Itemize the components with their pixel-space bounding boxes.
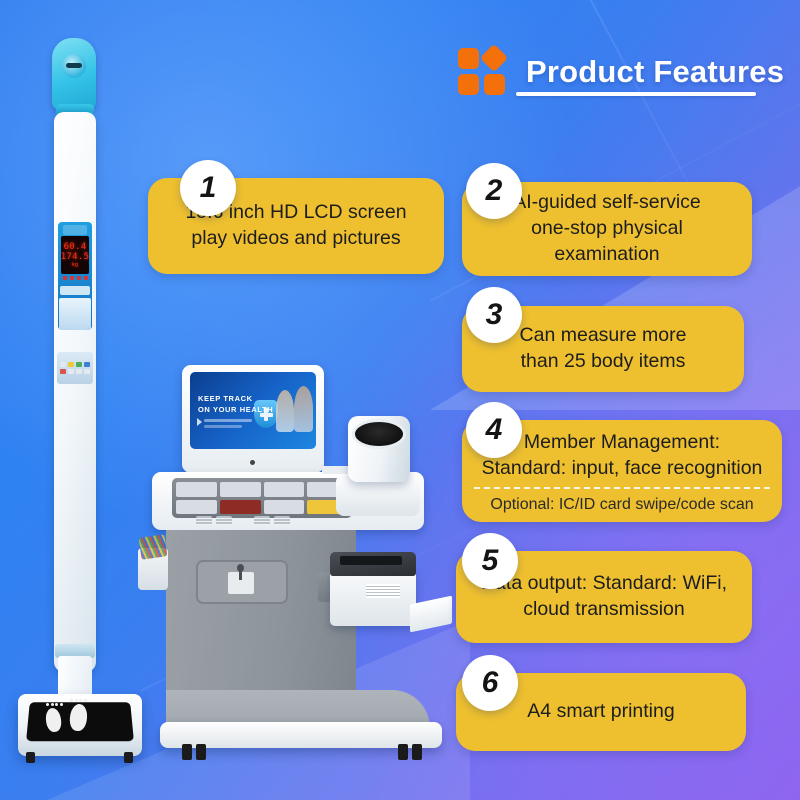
feature-number-badge-2: 2 bbox=[466, 163, 522, 219]
screen-person-figure bbox=[276, 390, 294, 432]
led-unit-label: kg bbox=[72, 263, 79, 268]
caster-wheel bbox=[182, 744, 192, 760]
screen-headline-line1: KEEP TRACK bbox=[198, 394, 253, 403]
sensor-slit-icon bbox=[66, 63, 82, 68]
section-header: Product Features bbox=[458, 46, 784, 96]
led-weight-value: 60.4 bbox=[64, 243, 87, 252]
feature-number-badge-3: 3 bbox=[466, 287, 522, 343]
monitor-indicator-icon bbox=[250, 460, 255, 465]
led-readout-display: 60.4 174.5 kg bbox=[61, 236, 89, 274]
cabinet-panel-icon bbox=[228, 572, 254, 594]
sensor-module-tray bbox=[172, 478, 352, 518]
infographic-canvas: 60.4 174.5 kg bbox=[0, 0, 800, 800]
footprint-left-toes-icon bbox=[46, 703, 63, 706]
scale-foot-pad bbox=[124, 752, 133, 763]
led-indicator-dots bbox=[63, 276, 88, 280]
feature-number-badge-6: 6 bbox=[462, 655, 518, 711]
card-dashed-divider bbox=[474, 487, 770, 489]
printer-output-tray bbox=[410, 596, 452, 633]
printer-paper-slot bbox=[340, 556, 402, 565]
screen-subtext-line bbox=[204, 419, 252, 422]
feature-number-badge-1: 1 bbox=[180, 160, 236, 216]
screen-person-figure bbox=[294, 386, 313, 432]
footprint-right-toes-icon bbox=[70, 699, 87, 702]
deck-vent-icon bbox=[196, 516, 212, 525]
height-sensor-head-icon bbox=[52, 38, 96, 110]
feature-optional-text: Optional: IC/ID card swipe/code scan bbox=[462, 495, 782, 516]
feature-number-badge-5: 5 bbox=[462, 533, 518, 589]
panel-keypad bbox=[57, 352, 93, 384]
kiosk-lcd-screen: KEEP TRACK ON YOUR HEALTH bbox=[190, 372, 316, 449]
scale-foot-pad bbox=[26, 752, 35, 763]
cable-bundle bbox=[139, 534, 168, 559]
screen-subtext-line bbox=[204, 425, 242, 428]
height-measurement-column bbox=[54, 112, 96, 672]
panel-divider-strip bbox=[60, 286, 90, 295]
deck-vent-icon bbox=[254, 516, 270, 525]
header-underline bbox=[516, 92, 756, 96]
panel-info-graphic bbox=[59, 298, 91, 330]
caster-wheel bbox=[398, 744, 408, 760]
screen-headline-line2: ON YOUR HEALTH bbox=[198, 405, 273, 414]
printer-label bbox=[366, 584, 400, 598]
caster-wheel bbox=[196, 744, 206, 760]
feature-number-badge-4: 4 bbox=[466, 402, 522, 458]
health-kiosk-product-illustration: 60.4 174.5 kg bbox=[0, 0, 460, 800]
page-title: Product Features bbox=[526, 56, 784, 87]
cuff-arm-opening bbox=[352, 419, 406, 449]
four-squares-logo-icon bbox=[458, 46, 510, 96]
deck-vent-icon bbox=[216, 516, 232, 525]
screen-arrow-icon bbox=[197, 418, 202, 426]
led-height-value: 174.5 bbox=[61, 253, 90, 262]
deck-vent-icon bbox=[274, 516, 290, 525]
panel-logo-strip bbox=[63, 225, 87, 235]
caster-wheel bbox=[412, 744, 422, 760]
